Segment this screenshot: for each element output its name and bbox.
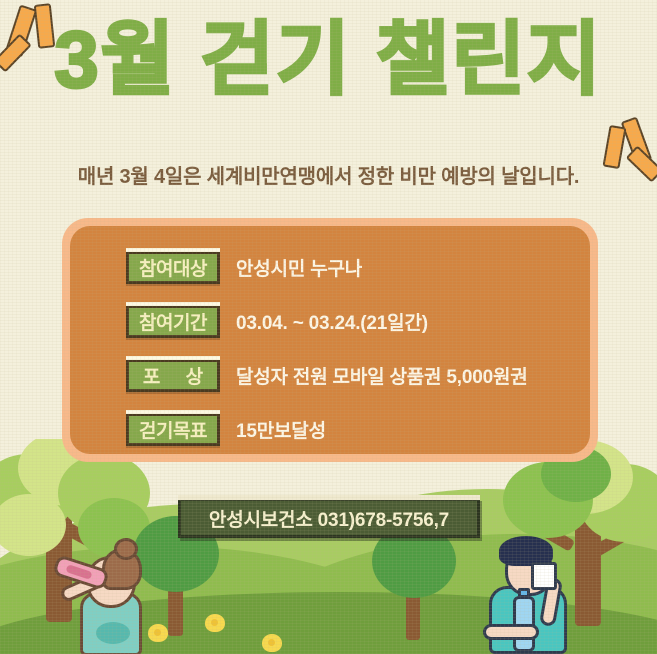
contact-banner-text: 안성시보건소 031)678-5756,7: [209, 505, 449, 532]
info-value-reward: 달성자 전원 모바일 상품권 5,000원권: [236, 362, 528, 389]
info-card-body: 참여대상 안성시민 누구나 참여기간 03.04. ~ 03.24.(21일간)…: [70, 226, 590, 454]
man-arm-lower: [483, 624, 539, 640]
info-row-goal: 걷기목표 15만보달성: [70, 406, 590, 453]
flower-2: [205, 614, 225, 632]
info-label-participants: 참여대상: [126, 251, 220, 284]
flower-3: [262, 634, 282, 652]
info-label-goal: 걷기목표: [126, 413, 220, 446]
poster-root: 3월 걷기 챌린지 매년 3월 4일은 세계비만연맹에서 정한 비만 예방의 날…: [0, 0, 657, 654]
spark-left-2: [34, 3, 56, 49]
woman-hair-bun: [114, 538, 138, 560]
info-value-goal: 15만보달성: [236, 416, 326, 443]
person-woman-drinking: [50, 544, 180, 654]
contact-banner: 안성시보건소 031)678-5756,7: [178, 498, 480, 538]
info-row-participants: 참여대상 안성시민 누구나: [70, 244, 590, 291]
info-row-period: 참여기간 03.04. ~ 03.24.(21일간): [70, 298, 590, 345]
page-subtitle: 매년 3월 4일은 세계비만연맹에서 정한 비만 예방의 날입니다.: [0, 160, 657, 189]
woman-shirt-detail: [96, 622, 130, 644]
info-value-period: 03.04. ~ 03.24.(21일간): [236, 308, 428, 335]
info-value-participants: 안성시민 누구나: [236, 254, 362, 281]
info-row-reward: 포 상 달성자 전원 모바일 상품권 5,000원권: [70, 352, 590, 399]
man-cup: [531, 562, 557, 590]
info-label-period: 참여기간: [126, 305, 220, 338]
page-title: 3월 걷기 챌린지: [0, 18, 657, 103]
person-man-drinking: [469, 534, 619, 654]
man-bottle-cap: [518, 588, 530, 598]
scenery-illustration: [0, 439, 657, 654]
info-label-reward: 포 상: [126, 359, 220, 392]
info-card: 참여대상 안성시민 누구나 참여기간 03.04. ~ 03.24.(21일간)…: [62, 218, 598, 462]
